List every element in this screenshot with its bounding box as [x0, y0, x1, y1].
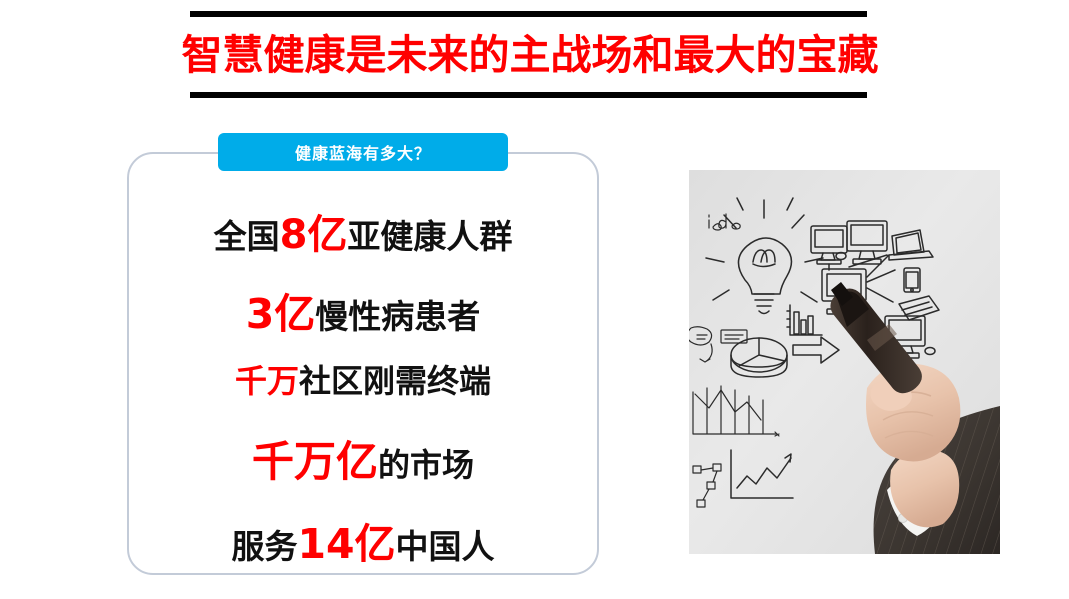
title-rule-top — [190, 11, 867, 17]
bullet-suffix: 慢性病患者 — [315, 297, 480, 336]
title-rule-bottom — [190, 92, 867, 98]
bullet-highlight: 8亿 — [280, 212, 348, 258]
section-banner-label: 健康蓝海有多大？ — [295, 140, 431, 164]
bullet-list: 全国8亿亚健康人群 3亿慢性病患者 千万社区刚需终端 千万亿的市场 服务14亿中… — [127, 186, 599, 571]
list-item: 千万社区刚需终端 — [127, 356, 599, 402]
bullet-suffix: 亚健康人群 — [347, 217, 512, 256]
whiteboard-sketch-illustration — [689, 170, 1000, 554]
bullet-prefix: 服务 — [231, 527, 297, 566]
bullet-highlight: 3亿 — [246, 290, 316, 338]
bullet-highlight: 14亿 — [297, 520, 395, 568]
bullet-highlight: 千万亿 — [252, 437, 378, 486]
page-title: 智慧健康是未来的主战场和最大的宝藏 — [160, 26, 900, 84]
whiteboard-photo — [689, 170, 1000, 554]
bullet-highlight: 千万 — [235, 362, 299, 400]
bullet-suffix: 中国人 — [396, 527, 495, 566]
slide-canvas: 智慧健康是未来的主战场和最大的宝藏 健康蓝海有多大？ 全国8亿亚健康人群 3亿慢… — [0, 0, 1069, 599]
list-item: 3亿慢性病患者 — [127, 280, 599, 340]
bullet-suffix: 的市场 — [378, 446, 474, 484]
bullet-suffix: 社区刚需终端 — [299, 362, 491, 400]
list-item: 千万亿的市场 — [127, 428, 599, 489]
section-banner: 健康蓝海有多大？ — [218, 133, 508, 171]
list-item: 服务14亿中国人 — [127, 510, 599, 570]
list-item: 全国8亿亚健康人群 — [127, 202, 599, 260]
bullet-prefix: 全国 — [214, 217, 280, 256]
